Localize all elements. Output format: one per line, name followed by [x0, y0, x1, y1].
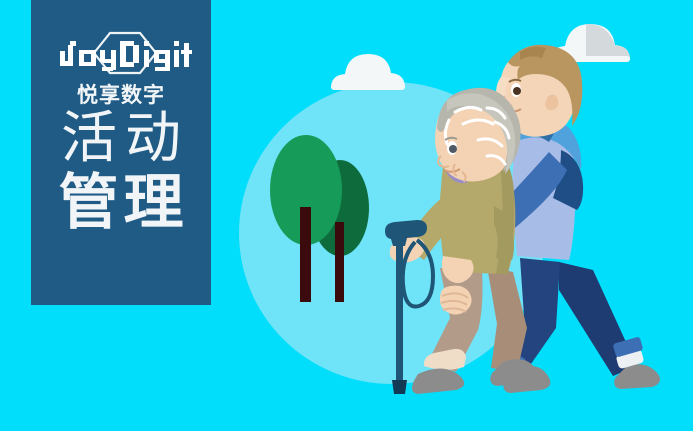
- title-panel: 悦享数字 活动 管理: [31, 0, 211, 305]
- poster-canvas: 悦享数字 活动 管理: [0, 0, 693, 431]
- logo-wordmark: [60, 41, 192, 71]
- brand-lockup: 悦享数字: [48, 29, 194, 81]
- joydigit-logo: [48, 29, 194, 81]
- page-title-line1: 活动: [31, 109, 211, 169]
- page-title: 活动 管理: [31, 109, 211, 236]
- page-title-line2: 管理: [31, 171, 211, 236]
- brand-name-cn: 悦享数字: [48, 85, 194, 106]
